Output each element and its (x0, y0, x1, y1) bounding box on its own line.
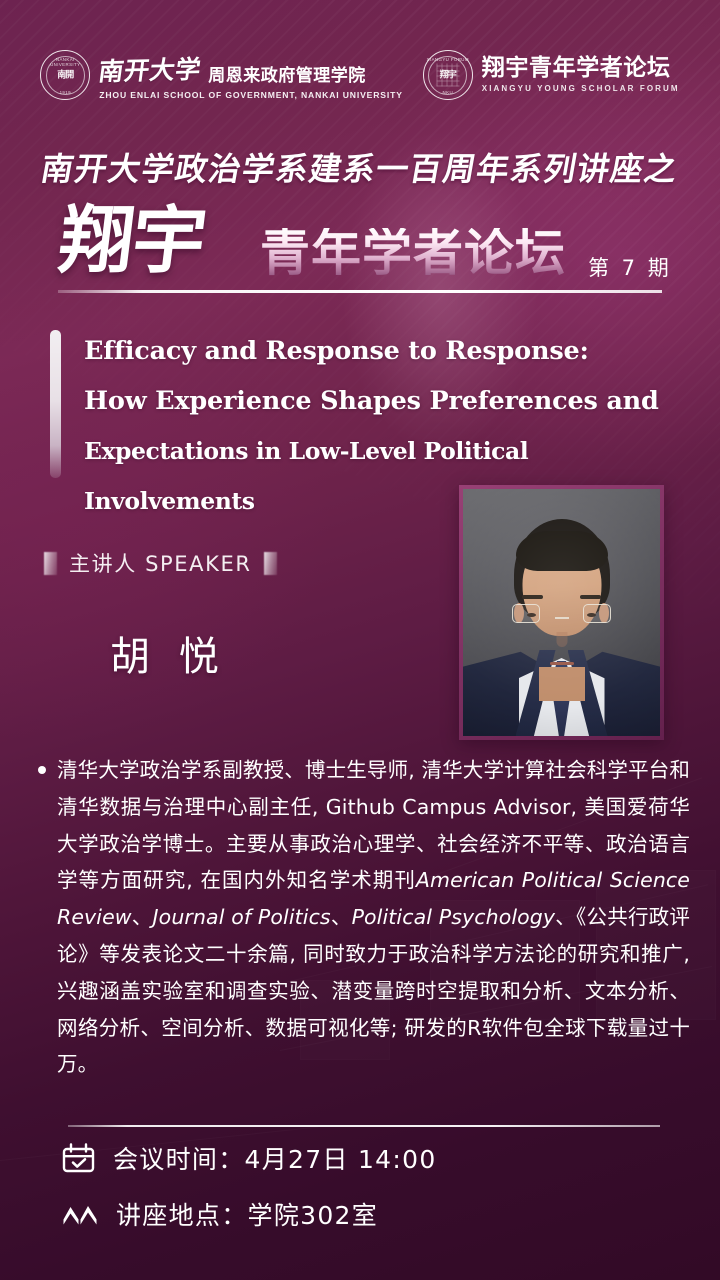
speaker-name: 胡 悦 (110, 624, 227, 682)
xiangyu-forum-name: 翔宇青年学者论坛 (482, 57, 680, 80)
speaker-portrait (463, 489, 660, 736)
brand-secondary-text: 青年学者论坛 (260, 228, 566, 278)
talk-title-line: How Experience Shapes Preferences and (84, 376, 684, 426)
nankai-brush-name: 南开大学 (97, 49, 204, 88)
meeting-place-row: 讲座地点：学院302室 (62, 1196, 378, 1232)
xiangyu-forum-seal: XIANGYU FORUM 翔宇 NKU (423, 50, 473, 100)
logo-bar: NANKAI UNIVERSITY 南開 1919 南开大学 周恩来政府管理学院… (0, 44, 720, 106)
meeting-place-label: 讲座地点： (116, 1201, 248, 1230)
title-accent-bar (50, 330, 61, 478)
footer-divider (68, 1125, 660, 1127)
meeting-time-row: 会议时间：4月27日 14:00 (62, 1140, 437, 1176)
nankai-logo-group: NANKAI UNIVERSITY 南開 1919 南开大学 周恩来政府管理学院… (40, 50, 403, 100)
xiangyu-logo-group: XIANGYU FORUM 翔宇 NKU 翔宇青年学者论坛 XIANGYU YO… (423, 50, 680, 100)
portrait-vignette (463, 489, 660, 736)
issue-number: 第 7 期 (588, 252, 672, 282)
seal-core-text: 翔宇 (436, 64, 459, 87)
talk-title-line: Efficacy and Response to Response: (84, 326, 684, 376)
decor-block-left-icon (44, 552, 57, 575)
brand-underline-rule (58, 290, 662, 293)
seal-arc-bottom-text: NKU (424, 90, 472, 95)
calendar-check-icon (62, 1143, 95, 1174)
meeting-place-value: 学院302室 (248, 1201, 379, 1230)
location-mountain-icon (62, 1202, 98, 1226)
seal-arc-bottom-text: 1919 (41, 90, 89, 95)
speaker-label-group: 主讲人 SPEAKER (44, 548, 277, 578)
meeting-time-value: 4月27日 14:00 (245, 1145, 437, 1174)
series-heading: 南开大学政治学系建系一百周年系列讲座之 (0, 144, 720, 190)
meeting-time-text: 会议时间：4月27日 14:00 (113, 1140, 437, 1176)
seal-core-text: 南開 (54, 64, 77, 87)
speaker-portrait-frame (459, 485, 664, 740)
nankai-school-name: 周恩来政府管理学院 (208, 61, 366, 87)
bullet-icon (38, 766, 46, 774)
speaker-bio-block: 清华大学政治学系副教授、博士生导师, 清华大学计算社会科学平台和清华数据与治理中… (38, 752, 690, 1083)
poster-canvas: NANKAI UNIVERSITY 南開 1919 南开大学 周恩来政府管理学院… (0, 0, 720, 1280)
brand-primary-text: 翔宇 (55, 204, 208, 278)
brand-title-group: 翔宇 青年学者论坛 第 7 期 (60, 210, 680, 310)
xiangyu-logo-text: 翔宇青年学者论坛 XIANGYU YOUNG SCHOLAR FORUM (482, 57, 680, 93)
nankai-logo-text: 南开大学 周恩来政府管理学院 ZHOU ENLAI SCHOOL OF GOVE… (99, 51, 403, 100)
seal-arc-top-text: XIANGYU FORUM (424, 57, 472, 62)
meeting-place-text: 讲座地点：学院302室 (116, 1196, 378, 1232)
nankai-university-seal: NANKAI UNIVERSITY 南開 1919 (40, 50, 90, 100)
speaker-label-text: 主讲人 SPEAKER (69, 548, 252, 578)
speaker-bio-text: 清华大学政治学系副教授、博士生导师, 清华大学计算社会科学平台和清华数据与治理中… (57, 752, 690, 1083)
nankai-logo-english: ZHOU ENLAI SCHOOL OF GOVERNMENT, NANKAI … (99, 90, 403, 100)
decor-block-right-icon (264, 552, 277, 575)
xiangyu-forum-english: XIANGYU YOUNG SCHOLAR FORUM (482, 84, 680, 93)
meeting-time-label: 会议时间： (113, 1145, 245, 1174)
